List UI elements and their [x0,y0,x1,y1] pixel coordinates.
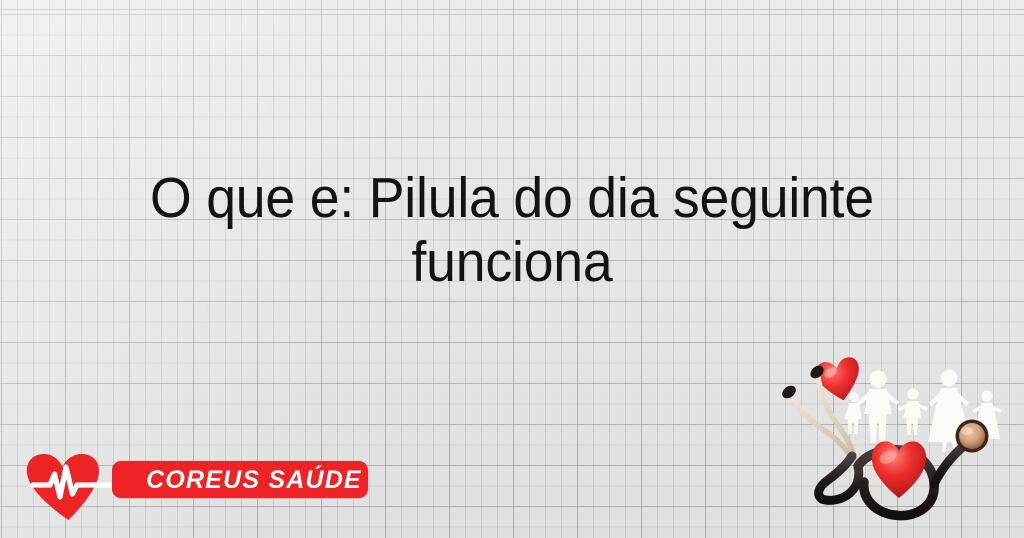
brand-name-label: COREUS SAÚDE [136,463,372,497]
brand-logo[interactable]: COREUS SAÚDE [24,448,350,520]
medical-illustration [766,350,1024,538]
slide-canvas: O que e: Pilula do dia seguinte funciona… [0,0,1024,538]
page-title: O que e: Pilula do dia seguinte funciona [87,166,937,294]
heart-ecg-icon [24,452,116,522]
stethoscope-chestpiece-icon [956,420,989,453]
